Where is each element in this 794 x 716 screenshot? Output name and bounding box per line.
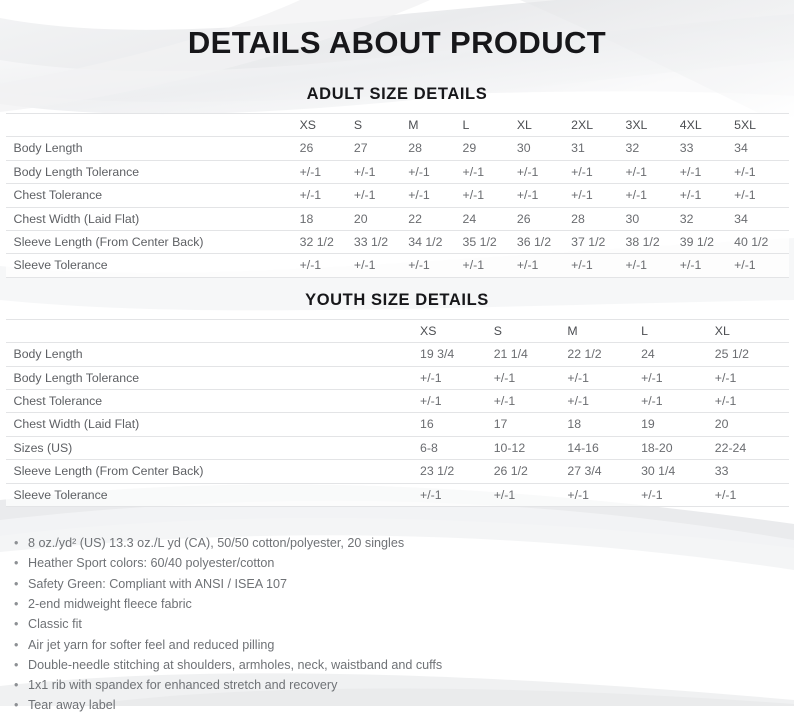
cell-value: +/-1 <box>680 254 734 277</box>
cell-value: 25 1/2 <box>715 343 789 366</box>
cell-value: 18-20 <box>641 436 715 459</box>
cell-value: +/-1 <box>567 390 641 413</box>
cell-value: +/-1 <box>494 483 568 506</box>
adult-size-details-title: ADULT SIZE DETAILS <box>0 85 794 104</box>
cell-value: 32 1/2 <box>300 231 354 254</box>
adult-header-xl: XL <box>517 114 571 137</box>
table-row: Body Length 19 3/4 21 1/4 22 1/2 24 25 1… <box>6 343 789 366</box>
cell-value: +/-1 <box>680 160 734 183</box>
youth-header-s: S <box>494 319 568 342</box>
row-label: Chest Tolerance <box>6 390 421 413</box>
cell-value: 34 <box>734 207 788 230</box>
bullet-icon: • <box>14 614 18 634</box>
adult-header-2xl: 2XL <box>571 114 625 137</box>
cell-value: 30 <box>625 207 679 230</box>
cell-value: 39 1/2 <box>680 231 734 254</box>
cell-value: 23 1/2 <box>420 460 494 483</box>
youth-header-xl: XL <box>715 319 789 342</box>
cell-value: +/-1 <box>420 483 494 506</box>
row-label: Sleeve Length (From Center Back) <box>6 231 300 254</box>
bullet-icon: • <box>14 533 18 553</box>
youth-header-xs: XS <box>420 319 494 342</box>
cell-value: +/-1 <box>494 366 568 389</box>
feature-text: Heather Sport colors: 60/40 polyester/co… <box>28 556 274 570</box>
cell-value: 19 3/4 <box>420 343 494 366</box>
cell-value: +/-1 <box>408 254 462 277</box>
cell-value: 30 <box>517 137 571 160</box>
cell-value: +/-1 <box>641 366 715 389</box>
cell-value: +/-1 <box>734 184 788 207</box>
cell-value: 24 <box>641 343 715 366</box>
table-row: Sizes (US) 6-8 10-12 14-16 18-20 22-24 <box>6 436 789 459</box>
cell-value: +/-1 <box>571 160 625 183</box>
cell-value: +/-1 <box>300 184 354 207</box>
youth-header-blank <box>6 319 421 342</box>
adult-header-blank <box>6 114 300 137</box>
cell-value: +/-1 <box>300 254 354 277</box>
bullet-icon: • <box>14 635 18 655</box>
table-row: Chest Tolerance +/-1 +/-1 +/-1 +/-1 +/-1… <box>6 184 789 207</box>
cell-value: 6-8 <box>420 436 494 459</box>
row-label: Chest Width (Laid Flat) <box>6 207 300 230</box>
cell-value: +/-1 <box>625 160 679 183</box>
cell-value: +/-1 <box>517 160 571 183</box>
table-row: Sleeve Length (From Center Back) 32 1/2 … <box>6 231 789 254</box>
cell-value: 27 <box>354 137 408 160</box>
cell-value: +/-1 <box>420 390 494 413</box>
cell-value: +/-1 <box>641 483 715 506</box>
adult-header-s: S <box>354 114 408 137</box>
youth-section-header: YOUTH SIZE DETAILS <box>0 278 794 319</box>
cell-value: +/-1 <box>463 160 517 183</box>
list-item: • 2-end midweight fleece fabric <box>14 594 794 614</box>
cell-value: +/-1 <box>354 254 408 277</box>
cell-value: +/-1 <box>463 184 517 207</box>
cell-value: 33 <box>680 137 734 160</box>
youth-size-table: XS S M L XL Body Length 19 3/4 21 1/4 22… <box>6 319 789 507</box>
table-header-row: XS S M L XL <box>6 319 789 342</box>
row-label: Chest Width (Laid Flat) <box>6 413 421 436</box>
cell-value: 22 <box>408 207 462 230</box>
cell-value: +/-1 <box>715 366 789 389</box>
cell-value: 33 <box>715 460 789 483</box>
bullet-icon: • <box>14 553 18 573</box>
cell-value: 18 <box>567 413 641 436</box>
feature-text: 8 oz./yd² (US) 13.3 oz./L yd (CA), 50/50… <box>28 536 404 550</box>
feature-text: 2-end midweight fleece fabric <box>28 597 192 611</box>
table-row: Body Length 26 27 28 29 30 31 32 33 34 <box>6 137 789 160</box>
cell-value: 32 <box>625 137 679 160</box>
row-label: Body Length <box>6 343 421 366</box>
cell-value: 14-16 <box>567 436 641 459</box>
cell-value: 35 1/2 <box>463 231 517 254</box>
product-features-list: • 8 oz./yd² (US) 13.3 oz./L yd (CA), 50/… <box>0 507 794 716</box>
table-row: Body Length Tolerance +/-1 +/-1 +/-1 +/-… <box>6 160 789 183</box>
table-row: Body Length Tolerance +/-1 +/-1 +/-1 +/-… <box>6 366 789 389</box>
row-label: Chest Tolerance <box>6 184 300 207</box>
list-item: • 8 oz./yd² (US) 13.3 oz./L yd (CA), 50/… <box>14 533 794 553</box>
cell-value: 20 <box>715 413 789 436</box>
cell-value: 26 <box>300 137 354 160</box>
cell-value: +/-1 <box>625 184 679 207</box>
row-label: Sizes (US) <box>6 436 421 459</box>
cell-value: 28 <box>408 137 462 160</box>
table-row: Sleeve Tolerance +/-1 +/-1 +/-1 +/-1 +/-… <box>6 483 789 506</box>
bullet-icon: • <box>14 655 18 675</box>
cell-value: +/-1 <box>571 184 625 207</box>
cell-value: 28 <box>571 207 625 230</box>
row-label: Sleeve Tolerance <box>6 254 300 277</box>
cell-value: 33 1/2 <box>354 231 408 254</box>
cell-value: 27 3/4 <box>567 460 641 483</box>
adult-header-m: M <box>408 114 462 137</box>
cell-value: +/-1 <box>494 390 568 413</box>
list-item: • Heather Sport colors: 60/40 polyester/… <box>14 553 794 573</box>
row-label: Body Length Tolerance <box>6 366 421 389</box>
cell-value: 29 <box>463 137 517 160</box>
row-label: Body Length <box>6 137 300 160</box>
bullet-icon: • <box>14 675 18 695</box>
row-label: Sleeve Length (From Center Back) <box>6 460 421 483</box>
list-item: • Air jet yarn for softer feel and reduc… <box>14 635 794 655</box>
feature-text: Tear away label <box>28 698 116 712</box>
adult-header-xs: XS <box>300 114 354 137</box>
cell-value: +/-1 <box>734 160 788 183</box>
cell-value: +/-1 <box>517 254 571 277</box>
row-label: Body Length Tolerance <box>6 160 300 183</box>
cell-value: 38 1/2 <box>625 231 679 254</box>
youth-header-l: L <box>641 319 715 342</box>
feature-text: Safety Green: Compliant with ANSI / ISEA… <box>28 577 287 591</box>
table-row: Sleeve Tolerance +/-1 +/-1 +/-1 +/-1 +/-… <box>6 254 789 277</box>
cell-value: 34 <box>734 137 788 160</box>
cell-value: 26 <box>517 207 571 230</box>
cell-value: +/-1 <box>463 254 517 277</box>
cell-value: +/-1 <box>641 390 715 413</box>
cell-value: 36 1/2 <box>517 231 571 254</box>
cell-value: +/-1 <box>734 254 788 277</box>
table-header-row: XS S M L XL 2XL 3XL 4XL 5XL <box>6 114 789 137</box>
cell-value: +/-1 <box>517 184 571 207</box>
cell-value: 26 1/2 <box>494 460 568 483</box>
cell-value: +/-1 <box>354 160 408 183</box>
feature-text: Classic fit <box>28 617 82 631</box>
youth-size-details-title: YOUTH SIZE DETAILS <box>0 291 794 310</box>
cell-value: 10-12 <box>494 436 568 459</box>
cell-value: +/-1 <box>300 160 354 183</box>
cell-value: 20 <box>354 207 408 230</box>
adult-size-table: XS S M L XL 2XL 3XL 4XL 5XL Body Length … <box>6 113 789 278</box>
table-row: Chest Tolerance +/-1 +/-1 +/-1 +/-1 +/-1 <box>6 390 789 413</box>
table-row: Chest Width (Laid Flat) 18 20 22 24 26 2… <box>6 207 789 230</box>
cell-value: +/-1 <box>715 390 789 413</box>
table-row: Sleeve Length (From Center Back) 23 1/2 … <box>6 460 789 483</box>
adult-header-4xl: 4XL <box>680 114 734 137</box>
cell-value: 40 1/2 <box>734 231 788 254</box>
cell-value: +/-1 <box>567 366 641 389</box>
cell-value: +/-1 <box>715 483 789 506</box>
cell-value: +/-1 <box>625 254 679 277</box>
cell-value: 30 1/4 <box>641 460 715 483</box>
adult-header-3xl: 3XL <box>625 114 679 137</box>
adult-section-header: ADULT SIZE DETAILS <box>0 61 794 113</box>
feature-text: Air jet yarn for softer feel and reduced… <box>28 638 274 652</box>
cell-value: 16 <box>420 413 494 436</box>
bullet-icon: • <box>14 574 18 594</box>
bullet-icon: • <box>14 594 18 614</box>
list-item: • Double-needle stitching at shoulders, … <box>14 655 794 675</box>
feature-text: 1x1 rib with spandex for enhanced stretc… <box>28 678 337 692</box>
row-label: Sleeve Tolerance <box>6 483 421 506</box>
cell-value: 19 <box>641 413 715 436</box>
cell-value: +/-1 <box>354 184 408 207</box>
adult-header-l: L <box>463 114 517 137</box>
feature-text: Double-needle stitching at shoulders, ar… <box>28 658 442 672</box>
list-item: • 1x1 rib with spandex for enhanced stre… <box>14 675 794 695</box>
cell-value: +/-1 <box>420 366 494 389</box>
cell-value: +/-1 <box>567 483 641 506</box>
cell-value: 32 <box>680 207 734 230</box>
cell-value: 31 <box>571 137 625 160</box>
cell-value: 22-24 <box>715 436 789 459</box>
table-row: Chest Width (Laid Flat) 16 17 18 19 20 <box>6 413 789 436</box>
cell-value: +/-1 <box>408 184 462 207</box>
cell-value: 24 <box>463 207 517 230</box>
cell-value: 18 <box>300 207 354 230</box>
page-title: DETAILS ABOUT PRODUCT <box>0 0 794 61</box>
youth-header-m: M <box>567 319 641 342</box>
cell-value: 17 <box>494 413 568 436</box>
product-details-page: DETAILS ABOUT PRODUCT ADULT SIZE DETAILS… <box>0 0 794 706</box>
cell-value: 22 1/2 <box>567 343 641 366</box>
list-item: • Classic fit <box>14 614 794 634</box>
list-item: • Safety Green: Compliant with ANSI / IS… <box>14 574 794 594</box>
cell-value: +/-1 <box>408 160 462 183</box>
adult-header-5xl: 5XL <box>734 114 788 137</box>
cell-value: 34 1/2 <box>408 231 462 254</box>
cell-value: 37 1/2 <box>571 231 625 254</box>
cell-value: +/-1 <box>680 184 734 207</box>
cell-value: 21 1/4 <box>494 343 568 366</box>
cell-value: +/-1 <box>571 254 625 277</box>
